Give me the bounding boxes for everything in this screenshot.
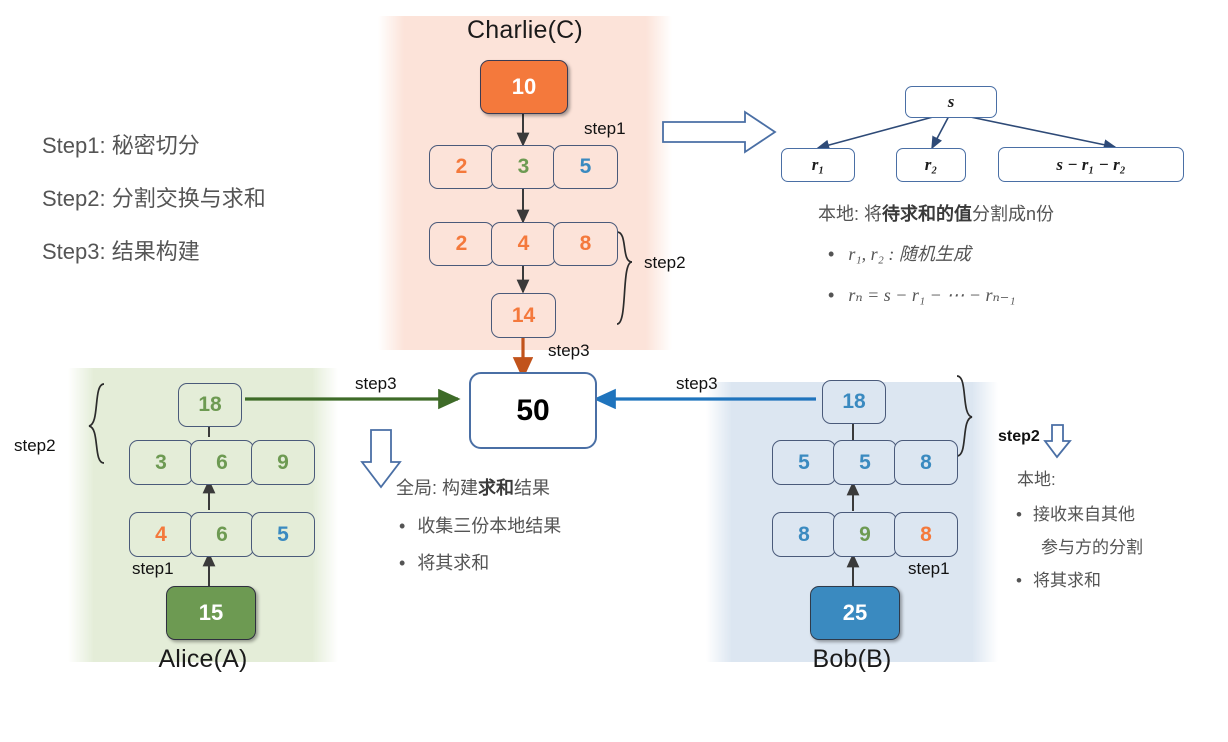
result-bullet-0: •收集三份本地结果: [399, 512, 561, 538]
charlie-step3-label: step3: [548, 341, 590, 361]
bob-detail-bullet-text-0: 接收来自其他: [1033, 505, 1135, 524]
split-detail-child-label-0: r₁: [812, 155, 825, 175]
alice-split-cell-2: 5: [251, 512, 315, 557]
charlie-step2-brace: [617, 232, 632, 324]
bullet-dot-icon: •: [828, 285, 834, 305]
alice-step1-label: step1: [132, 559, 174, 579]
result-caption-bold: 求和: [478, 478, 514, 498]
party-title-alice: Alice(A): [68, 645, 338, 674]
bullet-dot-icon: •: [1016, 505, 1022, 524]
bullet-dot-icon: •: [1016, 571, 1022, 590]
bob-detail-caption: 本地:: [1017, 465, 1056, 490]
charlie-received-cell-2: 8: [553, 222, 618, 266]
bob-step3-label: step3: [676, 374, 718, 394]
split-detail-bullet-1: •rₙ = s − r₁ − ⋯ − rₙ₋₁: [828, 285, 1016, 306]
alice-step2-label: step2: [14, 436, 56, 456]
charlie-local-sum-box: 14: [491, 293, 556, 338]
split-detail-child-box-1: r₂: [896, 148, 966, 182]
block-arrow-to-split-detail: [663, 112, 775, 152]
split-detail-caption-prefix: 本地: 将: [818, 204, 882, 224]
split-detail-child-box-0: r₁: [781, 148, 855, 182]
bob-step2-brace: [957, 376, 972, 456]
block-arrow-bob-detail: [1045, 425, 1070, 457]
legend-line-1: Step1: 秘密切分: [42, 128, 200, 160]
bob-split-cell-0: 8: [772, 512, 836, 557]
charlie-received-cell-1: 4: [491, 222, 556, 266]
result-bullet-text-1: 将其求和: [417, 553, 489, 573]
alice-step2-brace: [89, 384, 104, 463]
split-detail-root-box: s: [905, 86, 997, 118]
bob-detail-bullet-0: •接收来自其他: [1016, 500, 1135, 525]
alice-split-cell-0: 4: [129, 512, 193, 557]
alice-received-cell-0: 3: [129, 440, 193, 485]
split-detail-bullet-0: •r₁, r₂ : 随机生成: [828, 240, 971, 266]
diagram-canvas: Step1: 秘密切分 Step2: 分割交换与求和 Step3: 结果构建 C…: [0, 0, 1228, 742]
charlie-secret-box: 10: [480, 60, 568, 114]
bob-detail-bullet-text-2: 将其求和: [1033, 571, 1101, 590]
split-detail-bullet-text-0: r₁, r₂ : 随机生成: [848, 244, 971, 264]
bob-local-sum-box: 18: [822, 380, 886, 424]
bullet-dot-icon: •: [828, 244, 834, 264]
result-box: 50: [469, 372, 597, 449]
alice-secret-box: 15: [166, 586, 256, 640]
result-caption-title: 全局: 构建求和结果: [396, 474, 550, 500]
bob-split-cell-1: 9: [833, 512, 897, 557]
charlie-split-cell-2: 5: [553, 145, 618, 189]
charlie-step2-label: step2: [644, 253, 686, 273]
split-detail-caption: 本地: 将待求和的值分割成n份: [818, 200, 1054, 226]
bob-step1-label: step1: [908, 559, 950, 579]
split-detail-child-box-2: s − r₁ − r₂: [998, 147, 1184, 182]
alice-received-cell-2: 9: [251, 440, 315, 485]
charlie-split-cell-0: 2: [429, 145, 494, 189]
bob-detail-bullet-1: 参与方的分割: [1041, 533, 1143, 558]
bob-step2-label: step2: [998, 428, 1040, 446]
split-detail-child-label-1: r₂: [925, 155, 938, 175]
bullet-dot-icon: •: [399, 553, 405, 573]
charlie-received-cell-0: 2: [429, 222, 494, 266]
bob-received-cell-0: 5: [772, 440, 836, 485]
split-detail-caption-bold: 待求和的值: [882, 204, 972, 224]
result-bullet-1: •将其求和: [399, 549, 489, 575]
result-caption-suffix: 结果: [514, 478, 550, 498]
split-detail-child-label-2: s − r₁ − r₂: [1056, 155, 1125, 175]
bob-detail-bullet-2: •将其求和: [1016, 566, 1101, 591]
result-bullet-text-0: 收集三份本地结果: [417, 516, 561, 536]
result-caption-prefix: 全局: 构建: [396, 478, 478, 498]
bob-split-cell-2: 8: [894, 512, 958, 557]
party-title-bob: Bob(B): [706, 645, 998, 674]
alice-local-sum-box: 18: [178, 383, 242, 427]
bob-secret-box: 25: [810, 586, 900, 640]
block-arrow-result-caption: [362, 430, 400, 487]
bullet-dot-icon: •: [399, 516, 405, 536]
legend-line-2: Step2: 分割交换与求和: [42, 181, 266, 213]
charlie-step1-label: step1: [584, 119, 626, 139]
bob-received-cell-1: 5: [833, 440, 897, 485]
split-detail-bullet-text-1: rₙ = s − r₁ − ⋯ − rₙ₋₁: [848, 285, 1015, 305]
bob-received-cell-2: 8: [894, 440, 958, 485]
charlie-split-cell-1: 3: [491, 145, 556, 189]
alice-received-cell-1: 6: [190, 440, 254, 485]
party-title-charlie: Charlie(C): [378, 16, 672, 45]
alice-step3-label: step3: [355, 374, 397, 394]
split-detail-caption-suffix: 分割成n份: [972, 204, 1054, 224]
alice-split-cell-1: 6: [190, 512, 254, 557]
legend-line-3: Step3: 结果构建: [42, 234, 200, 266]
split-tree-edges: [818, 114, 1115, 148]
